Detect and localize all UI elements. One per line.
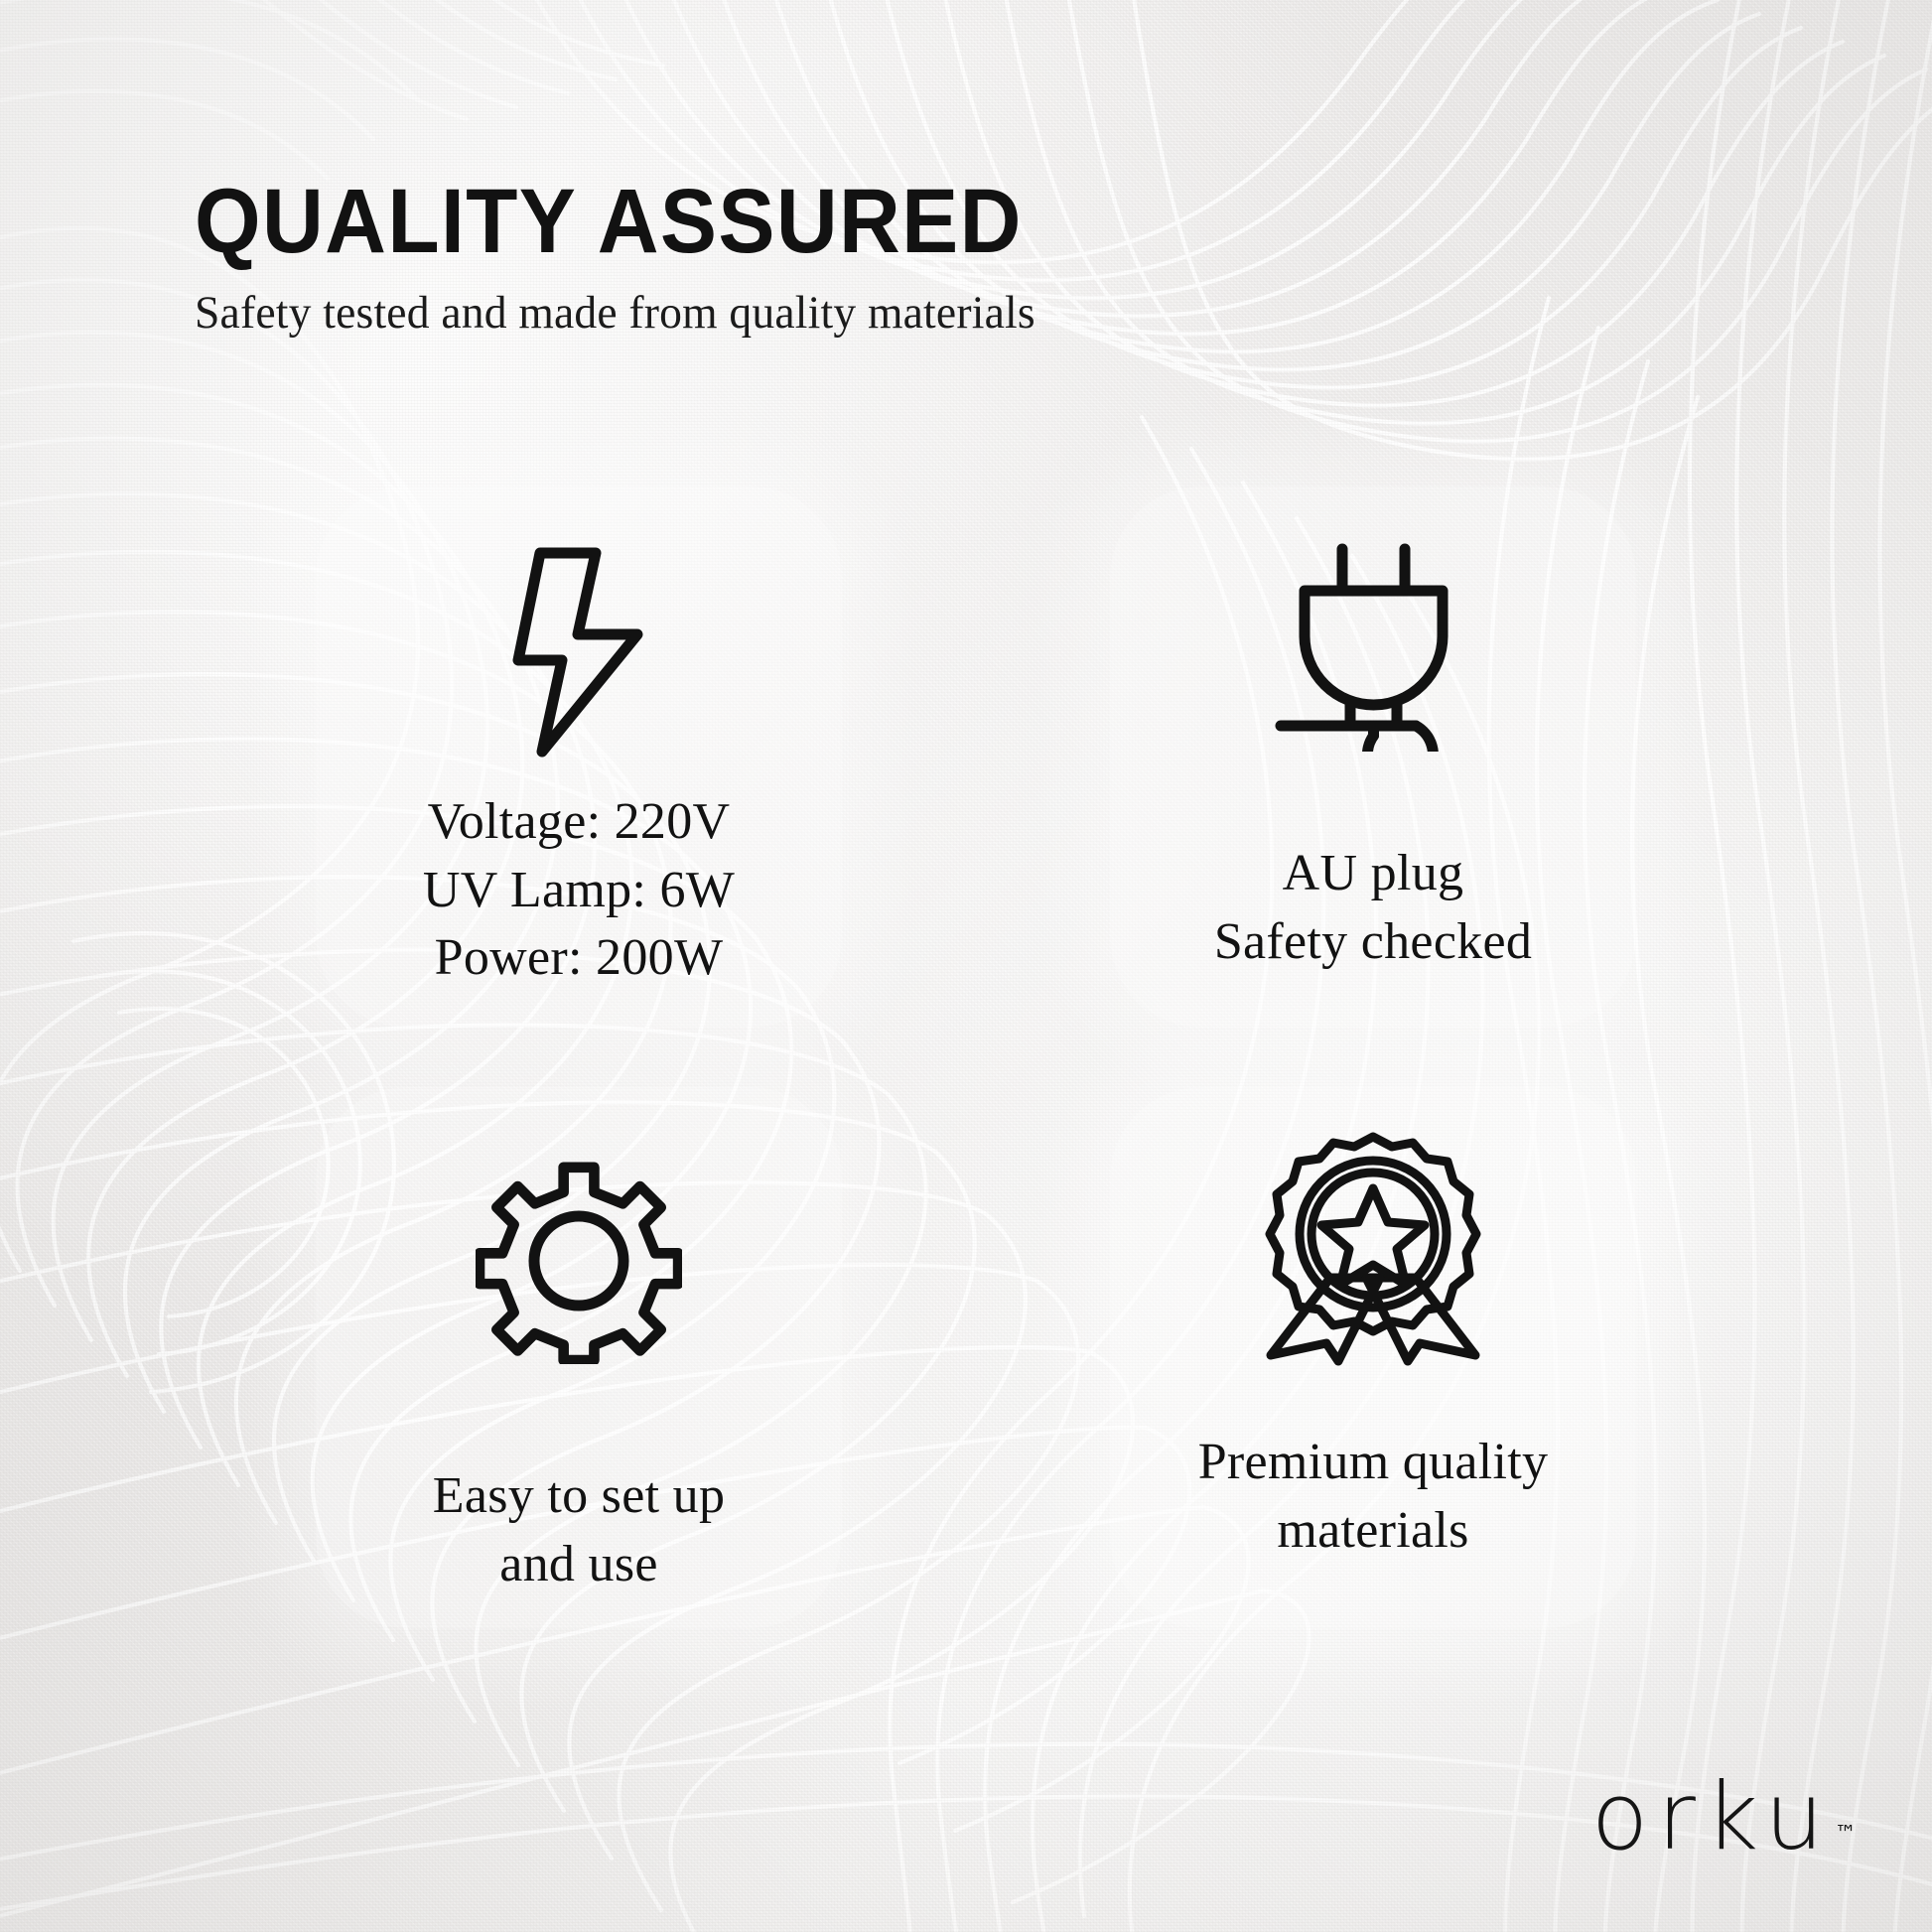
gear-icon xyxy=(476,1147,682,1375)
page-title: QUALITY ASSURED xyxy=(195,177,1303,266)
header: QUALITY ASSURED Safety tested and made f… xyxy=(195,177,1386,340)
trademark-symbol: ™ xyxy=(1835,1822,1857,1847)
brand-logo-wordmark: orku xyxy=(1591,1776,1833,1861)
setup-line-2: and use xyxy=(433,1531,726,1599)
feature-card-specs: Voltage: 220V UV Lamp: 6W Power: 200W xyxy=(316,486,842,1028)
feature-card-setup-text: Easy to set up and use xyxy=(419,1462,740,1598)
award-medal-icon xyxy=(1265,1135,1481,1363)
lightning-bolt-icon xyxy=(504,538,653,766)
specs-line-1: Voltage: 220V xyxy=(423,788,735,857)
feature-card-quality-text: Premium quality materials xyxy=(1184,1429,1563,1565)
specs-line-3: Power: 200W xyxy=(423,924,735,993)
quality-assured-poster: QUALITY ASSURED Safety tested and made f… xyxy=(0,0,1932,1932)
power-plug-icon xyxy=(1267,532,1480,760)
quality-line-2: materials xyxy=(1198,1497,1549,1566)
plug-line-1: AU plug xyxy=(1214,840,1532,908)
brand-logo: orku ™ xyxy=(1591,1776,1857,1861)
feature-card-setup: Easy to set up and use xyxy=(316,1087,842,1628)
quality-line-1: Premium quality xyxy=(1198,1429,1549,1497)
feature-card-plug-text: AU plug Safety checked xyxy=(1200,840,1546,976)
plug-line-2: Safety checked xyxy=(1214,908,1532,977)
feature-card-plug: AU plug Safety checked xyxy=(1110,486,1636,1028)
feature-card-quality: Premium quality materials xyxy=(1110,1087,1636,1628)
feature-card-grid: Voltage: 220V UV Lamp: 6W Power: 200W xyxy=(316,486,1636,1628)
feature-card-specs-text: Voltage: 220V UV Lamp: 6W Power: 200W xyxy=(409,788,749,993)
setup-line-1: Easy to set up xyxy=(433,1462,726,1531)
page-subtitle: Safety tested and made from quality mate… xyxy=(195,288,1350,340)
specs-line-2: UV Lamp: 6W xyxy=(423,857,735,925)
